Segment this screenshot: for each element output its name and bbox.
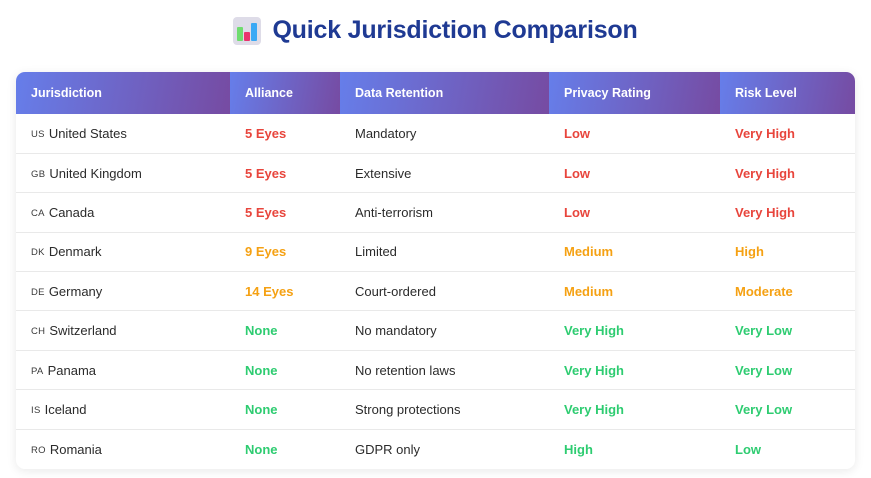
cell-data-retention: Anti-terrorism — [340, 193, 549, 232]
country-name: Switzerland — [49, 323, 116, 338]
cell-alliance: None — [230, 429, 340, 468]
cell-data-retention-value: Strong protections — [355, 402, 461, 417]
cell-risk-level-value: Moderate — [735, 284, 793, 299]
cell-data-retention: Court-ordered — [340, 272, 549, 311]
cell-alliance-value: None — [245, 363, 278, 378]
bar-chart-icon — [233, 17, 261, 45]
cell-alliance-value: 14 Eyes — [245, 284, 293, 299]
country-name: Iceland — [45, 402, 87, 417]
column-header-data-retention[interactable]: Data Retention — [340, 72, 549, 114]
cell-privacy-rating-value: Very High — [564, 402, 624, 417]
cell-jurisdiction: CHSwitzerland — [16, 311, 230, 350]
cell-data-retention-value: GDPR only — [355, 442, 420, 457]
country-name: Panama — [48, 363, 96, 378]
cell-data-retention-value: Anti-terrorism — [355, 205, 433, 220]
column-header-risk-level[interactable]: Risk Level — [720, 72, 855, 114]
cell-risk-level-value: Low — [735, 442, 761, 457]
column-header-alliance[interactable]: Alliance — [230, 72, 340, 114]
cell-privacy-rating: Very High — [549, 350, 720, 389]
cell-data-retention: Mandatory — [340, 114, 549, 153]
cell-alliance-value: None — [245, 323, 278, 338]
table-body: USUnited States5 EyesMandatoryLowVery Hi… — [16, 114, 855, 469]
country-name: United Kingdom — [49, 166, 142, 181]
page-header: Quick Jurisdiction Comparison — [0, 0, 871, 57]
cell-privacy-rating: Low — [549, 193, 720, 232]
cell-jurisdiction: USUnited States — [16, 114, 230, 153]
cell-privacy-rating-value: Medium — [564, 284, 613, 299]
cell-risk-level: Low — [720, 429, 855, 468]
cell-alliance: 9 Eyes — [230, 232, 340, 271]
cell-data-retention-value: No mandatory — [355, 323, 437, 338]
cell-alliance: None — [230, 350, 340, 389]
cell-privacy-rating-value: Very High — [564, 323, 624, 338]
table-row[interactable]: ISIcelandNoneStrong protectionsVery High… — [16, 390, 855, 429]
cell-alliance-value: 5 Eyes — [245, 126, 286, 141]
cell-alliance-value: None — [245, 442, 278, 457]
cell-data-retention: No retention laws — [340, 350, 549, 389]
cell-alliance: None — [230, 311, 340, 350]
table-row[interactable]: CHSwitzerlandNoneNo mandatoryVery HighVe… — [16, 311, 855, 350]
cell-risk-level-value: Very Low — [735, 402, 792, 417]
cell-jurisdiction: DEGermany — [16, 272, 230, 311]
table-row[interactable]: RORomaniaNoneGDPR onlyHighLow — [16, 429, 855, 468]
cell-alliance: 5 Eyes — [230, 114, 340, 153]
cell-data-retention: Extensive — [340, 153, 549, 192]
cell-privacy-rating-value: Low — [564, 205, 590, 220]
cell-privacy-rating: Very High — [549, 390, 720, 429]
cell-privacy-rating-value: Low — [564, 166, 590, 181]
cell-privacy-rating: Low — [549, 153, 720, 192]
country-name: Germany — [49, 284, 102, 299]
cell-data-retention: No mandatory — [340, 311, 549, 350]
country-name: Denmark — [49, 244, 102, 259]
cell-risk-level-value: Very High — [735, 205, 795, 220]
country-code-flag-icon: PA — [31, 366, 44, 377]
country-code-flag-icon: IS — [31, 405, 41, 416]
table-row[interactable]: DKDenmark9 EyesLimitedMediumHigh — [16, 232, 855, 271]
cell-risk-level-value: Very Low — [735, 363, 792, 378]
table-row[interactable]: DEGermany14 EyesCourt-orderedMediumModer… — [16, 272, 855, 311]
cell-jurisdiction: ISIceland — [16, 390, 230, 429]
cell-risk-level: Very High — [720, 114, 855, 153]
cell-data-retention-value: Mandatory — [355, 126, 416, 141]
cell-jurisdiction: RORomania — [16, 429, 230, 468]
cell-risk-level: High — [720, 232, 855, 271]
cell-privacy-rating-value: High — [564, 442, 593, 457]
cell-alliance-value: None — [245, 402, 278, 417]
cell-risk-level: Very High — [720, 153, 855, 192]
country-name: Canada — [49, 205, 95, 220]
comparison-page: Quick Jurisdiction Comparison Jurisdicti… — [0, 0, 871, 478]
cell-privacy-rating-value: Medium — [564, 244, 613, 259]
cell-data-retention-value: Limited — [355, 244, 397, 259]
cell-alliance-value: 5 Eyes — [245, 166, 286, 181]
country-code-flag-icon: RO — [31, 445, 46, 456]
country-code-flag-icon: DE — [31, 287, 45, 298]
cell-alliance-value: 9 Eyes — [245, 244, 286, 259]
page-title: Quick Jurisdiction Comparison — [272, 16, 637, 45]
cell-risk-level: Very Low — [720, 311, 855, 350]
column-header-privacy-rating[interactable]: Privacy Rating — [549, 72, 720, 114]
cell-privacy-rating: Low — [549, 114, 720, 153]
cell-risk-level: Very Low — [720, 390, 855, 429]
cell-alliance: 5 Eyes — [230, 193, 340, 232]
cell-privacy-rating-value: Low — [564, 126, 590, 141]
cell-privacy-rating-value: Very High — [564, 363, 624, 378]
cell-jurisdiction: CACanada — [16, 193, 230, 232]
cell-risk-level-value: Very Low — [735, 323, 792, 338]
cell-alliance: 14 Eyes — [230, 272, 340, 311]
country-name: Romania — [50, 442, 102, 457]
cell-privacy-rating: Medium — [549, 232, 720, 271]
cell-risk-level: Very High — [720, 193, 855, 232]
cell-data-retention: Limited — [340, 232, 549, 271]
cell-alliance: 5 Eyes — [230, 153, 340, 192]
country-code-flag-icon: CA — [31, 208, 45, 219]
cell-data-retention-value: Court-ordered — [355, 284, 436, 299]
country-code-flag-icon: CH — [31, 326, 45, 337]
cell-risk-level-value: Very High — [735, 126, 795, 141]
cell-privacy-rating: Medium — [549, 272, 720, 311]
comparison-table: Jurisdiction Alliance Data Retention Pri… — [16, 72, 855, 469]
country-code-flag-icon: GB — [31, 169, 45, 180]
table-row[interactable]: PAPanamaNoneNo retention lawsVery HighVe… — [16, 350, 855, 389]
cell-data-retention-value: Extensive — [355, 166, 411, 181]
cell-risk-level-value: High — [735, 244, 764, 259]
table-row[interactable]: USUnited States5 EyesMandatoryLowVery Hi… — [16, 114, 855, 153]
table-row[interactable]: GBUnited Kingdom5 EyesExtensiveLowVery H… — [16, 153, 855, 192]
cell-data-retention: Strong protections — [340, 390, 549, 429]
cell-risk-level-value: Very High — [735, 166, 795, 181]
column-header-jurisdiction[interactable]: Jurisdiction — [16, 72, 230, 114]
table-header: Jurisdiction Alliance Data Retention Pri… — [16, 72, 855, 114]
cell-jurisdiction: PAPanama — [16, 350, 230, 389]
table-header-row: Jurisdiction Alliance Data Retention Pri… — [16, 72, 855, 114]
cell-alliance: None — [230, 390, 340, 429]
country-name: United States — [49, 126, 127, 141]
cell-privacy-rating: Very High — [549, 311, 720, 350]
cell-jurisdiction: DKDenmark — [16, 232, 230, 271]
cell-privacy-rating: High — [549, 429, 720, 468]
table-row[interactable]: CACanada5 EyesAnti-terrorismLowVery High — [16, 193, 855, 232]
cell-data-retention-value: No retention laws — [355, 363, 455, 378]
cell-alliance-value: 5 Eyes — [245, 205, 286, 220]
cell-data-retention: GDPR only — [340, 429, 549, 468]
cell-jurisdiction: GBUnited Kingdom — [16, 153, 230, 192]
cell-risk-level: Very Low — [720, 350, 855, 389]
country-code-flag-icon: DK — [31, 247, 45, 258]
cell-risk-level: Moderate — [720, 272, 855, 311]
country-code-flag-icon: US — [31, 129, 45, 140]
jurisdiction-comparison-table: Jurisdiction Alliance Data Retention Pri… — [16, 72, 855, 469]
